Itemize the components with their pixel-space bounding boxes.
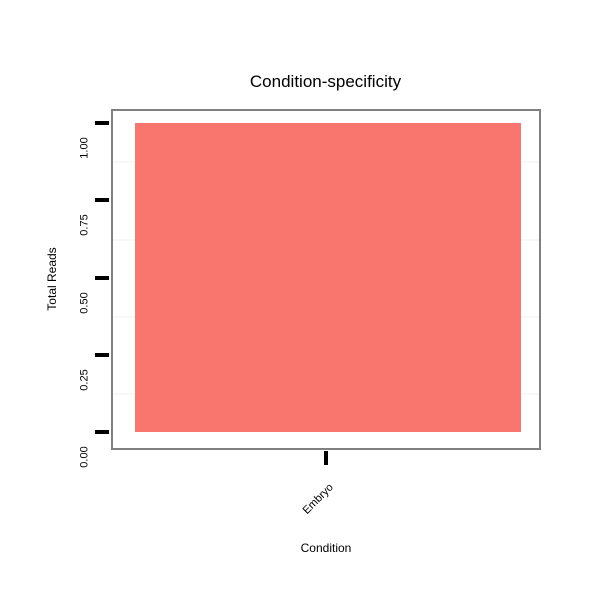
chart-panel [111, 109, 541, 450]
y-tick-label-text: 0.00 [80, 446, 91, 467]
y-tick-label-text: 0.75 [80, 214, 91, 235]
chart-title: Condition-specificity [0, 72, 600, 92]
y-tick-label-text: 0.25 [80, 369, 91, 390]
y-tick-mark-1-00 [95, 121, 109, 125]
y-tick-label-text: 0.50 [80, 292, 91, 313]
bar-embryo[interactable] [135, 123, 521, 432]
y-axis-title-text: Total Reads [46, 247, 58, 310]
chart-plot-area: Condition-specificity Total Reads 1.00 0… [0, 0, 600, 600]
y-tick-mark-0-50 [95, 276, 109, 280]
y-tick-mark-0-00 [95, 430, 109, 434]
chart-panel-inner [113, 111, 539, 448]
y-tick-label-text: 1.00 [80, 137, 91, 158]
y-tick-mark-0-75 [95, 198, 109, 202]
x-axis-title: Condition [111, 541, 541, 555]
y-tick-mark-0-25 [95, 353, 109, 357]
x-tick-mark-embryo [324, 451, 328, 465]
x-tick-label-text: Embryo [301, 482, 336, 517]
